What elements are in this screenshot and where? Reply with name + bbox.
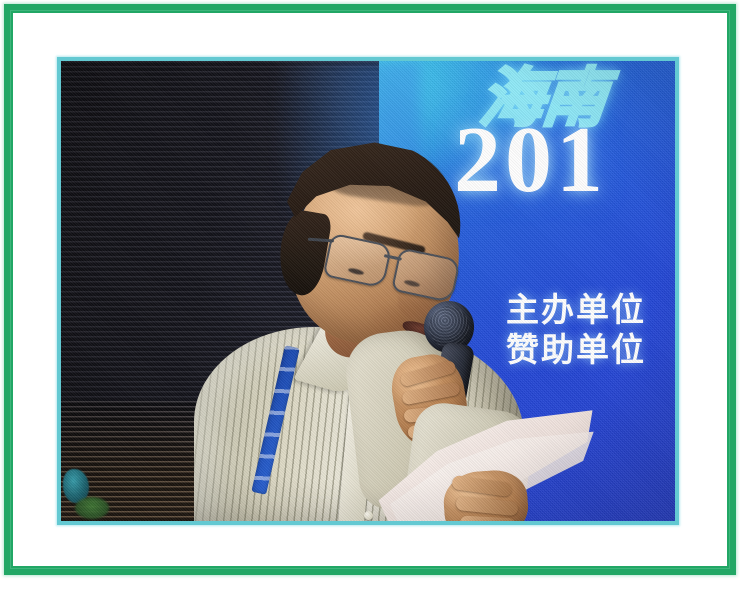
photograph: 海南 201 主办单位 赞助单位	[61, 61, 675, 521]
speaker-figure	[176, 119, 566, 521]
shirt-button	[364, 511, 373, 520]
foreground-green-object	[75, 497, 109, 519]
photo-frame-bevel: 海南 201 主办单位 赞助单位	[57, 57, 679, 525]
photo-page: 海南 201 主办单位 赞助单位	[0, 0, 740, 589]
